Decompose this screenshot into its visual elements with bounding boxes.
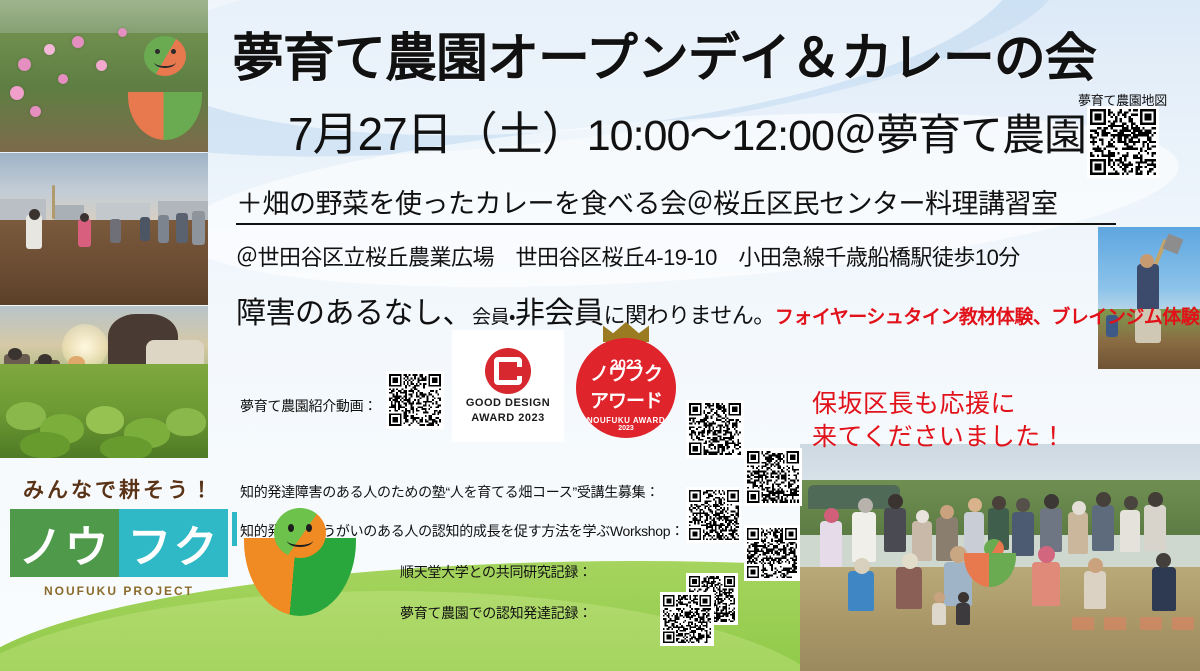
- qr-code-records[interactable]: [660, 592, 714, 646]
- photo-harvesting: [0, 306, 208, 458]
- mascot-logo-icon: [244, 508, 356, 620]
- event-date-time: 7月27日（土）10:00～12:00＠夢育て農園: [288, 98, 1188, 164]
- inclusion-statement: 障害のあるなし、会員・非会員に関わりません。フォイヤーシュタイン教材体験、ブレイ…: [236, 288, 1199, 332]
- inclusion-highlight: フォイヤーシュタイン教材体験、ブレインジム体験: [775, 307, 1200, 328]
- qr-code-extra-2[interactable]: [744, 448, 802, 506]
- qr-code-map[interactable]: [1087, 106, 1159, 178]
- noufuku-block-left: ノウ: [10, 509, 119, 577]
- qr-label-course: 知的発達障害のある人のための塾“人を育てる畑コース”受講生募集：: [240, 482, 659, 502]
- qr-label-intro-video: 夢育て農園紹介動画：: [240, 396, 377, 416]
- qr-label-records: 夢育て農園での認知発達記録：: [400, 603, 592, 623]
- photo-farm-sign: [0, 0, 208, 152]
- event-date: 7月27日（土）: [288, 108, 587, 160]
- noufuku-award-jp2: アワード: [590, 386, 662, 413]
- teal-accent-bar: [232, 512, 237, 546]
- noufuku-project-logo: みんなで耕そう！ ノウ フク NOUFUKU PROJECT: [10, 474, 228, 620]
- photo-tilling-field: [0, 153, 208, 305]
- noufuku-block-right: フク: [119, 509, 228, 577]
- good-design-award-badge: GOOD DESIGN AWARD 2023: [452, 330, 564, 442]
- good-design-mark-icon: [485, 348, 531, 394]
- page-title: 夢育て農園オープンデイ＆カレーの会: [232, 16, 1172, 91]
- noufuku-award-en2: 2023: [618, 425, 634, 432]
- photo-group: [800, 444, 1200, 671]
- mayor-support-text: 保坂区長も応援に 来てくださいました！: [812, 388, 1066, 454]
- farm-sign-board: [128, 30, 202, 146]
- qr-code-intro-video[interactable]: [386, 371, 444, 429]
- noufuku-award-en1: NOUFUKU AWARD: [587, 416, 665, 425]
- good-design-line2: AWARD 2023: [471, 412, 544, 424]
- event-time-place: 10:00～12:00＠夢育て農園: [587, 112, 1086, 160]
- inclusion-part1: 障害のあるなし、: [236, 297, 472, 330]
- poster-canvas: 夢育て農園オープンデイ＆カレーの会 7月27日（土）10:00～12:00＠夢育…: [0, 0, 1200, 671]
- inclusion-part2: 会員・: [472, 307, 515, 328]
- event-subtitle: ＋畑の野菜を使ったカレーを食べる会＠桜丘区民センター料理講習室: [236, 182, 1116, 225]
- noufuku-tagline: みんなで耕そう！: [10, 474, 228, 504]
- mascot-head: [274, 508, 326, 558]
- qr-code-course[interactable]: [686, 487, 742, 543]
- qr-label-research: 順天堂大学との共同研究記録：: [400, 562, 592, 582]
- noufuku-award-circle: 2023 ノウフク アワード NOUFUKU AWARD 2023: [576, 338, 676, 438]
- event-address: ＠世田谷区立桜丘農業広場 世田谷区桜丘4-19-10 小田急線千歳船橋駅徒歩10…: [236, 240, 1020, 272]
- noufuku-wordmark: ノウ フク: [10, 509, 228, 577]
- qr-code-workshop[interactable]: [744, 525, 800, 581]
- good-design-line1: GOOD DESIGN: [466, 397, 550, 409]
- noufuku-award-year: 2023: [576, 356, 676, 372]
- noufuku-award-badge: 2023 ノウフク アワード NOUFUKU AWARD 2023: [573, 322, 679, 444]
- noufuku-english: NOUFUKU PROJECT: [10, 584, 228, 598]
- qr-code-extra-1[interactable]: [686, 400, 744, 458]
